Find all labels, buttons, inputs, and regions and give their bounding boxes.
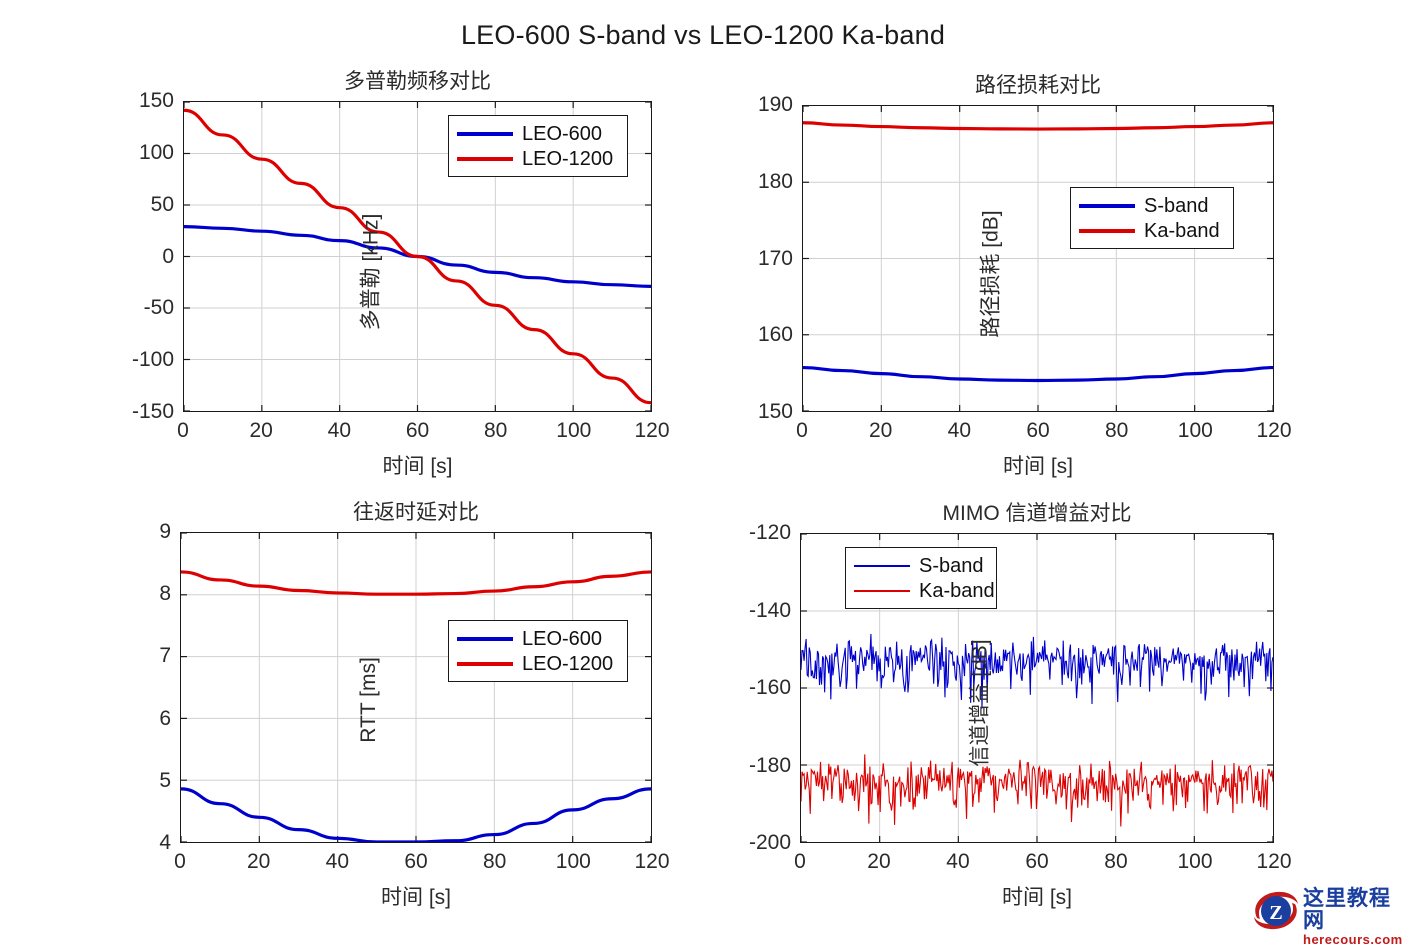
x-tick-label: 60 — [1025, 850, 1048, 874]
legend-item: LEO-600 — [457, 626, 618, 651]
logo-letter: Z — [1269, 902, 1282, 924]
subplot-pathloss: 路径损耗对比 路径损耗 [dB] 时间 [s] S-band Ka-band 1… — [802, 105, 1274, 412]
x-tick-label: 20 — [249, 419, 272, 443]
x-tick-label: 0 — [794, 850, 806, 874]
y-tick-label: -100 — [132, 348, 174, 372]
watermark-en: herecours.com — [1303, 932, 1403, 947]
y-tick-label: 150 — [139, 89, 174, 113]
x-tick-label: 20 — [869, 419, 892, 443]
legend-label: Ka-band — [919, 581, 995, 601]
x-tick-label: 40 — [946, 850, 969, 874]
subplot-pathloss-title: 路径损耗对比 — [802, 69, 1274, 99]
x-tick-label: 20 — [867, 850, 890, 874]
x-tick-label: 40 — [948, 419, 971, 443]
x-tick-label: 120 — [634, 850, 669, 874]
x-tick-label: 0 — [177, 419, 189, 443]
x-tick-label: 80 — [484, 419, 507, 443]
subplot-rtt-title: 往返时延对比 — [180, 496, 652, 526]
legend-item: S-band — [1079, 193, 1224, 218]
subplot-rtt-xlabel: 时间 [s] — [180, 881, 652, 911]
y-tick-label: -150 — [132, 400, 174, 424]
y-tick-label: 8 — [159, 582, 171, 606]
x-tick-label: 100 — [1178, 419, 1213, 443]
x-tick-label: 20 — [247, 850, 270, 874]
x-tick-label: 60 — [1026, 419, 1049, 443]
y-tick-label: 170 — [758, 247, 793, 271]
legend-label: LEO-600 — [522, 629, 602, 649]
legend-swatch-line — [1079, 204, 1135, 208]
x-tick-label: 120 — [1256, 419, 1291, 443]
legend-item: LEO-600 — [457, 121, 618, 146]
x-tick-label: 80 — [483, 850, 506, 874]
y-tick-label: 7 — [159, 644, 171, 668]
legend-label: S-band — [1144, 196, 1209, 216]
legend-swatch-line — [854, 565, 910, 567]
legend-rtt: LEO-600 LEO-1200 — [448, 620, 628, 682]
x-tick-label: 0 — [796, 419, 808, 443]
y-tick-label: -120 — [749, 521, 791, 545]
legend-swatch-line — [457, 132, 513, 136]
y-tick-label: -200 — [749, 831, 791, 855]
legend-pathloss: S-band Ka-band — [1070, 187, 1234, 249]
x-tick-label: 100 — [556, 850, 591, 874]
x-tick-label: 100 — [556, 419, 591, 443]
legend-label: S-band — [919, 556, 984, 576]
x-tick-label: 40 — [326, 850, 349, 874]
subplot-doppler-ylabel: 多普勒 [kHz] — [354, 213, 384, 330]
matlab-figure: LEO-600 S-band vs LEO-1200 Ka-band 多普勒频移… — [0, 0, 1406, 938]
y-tick-label: 180 — [758, 170, 793, 194]
legend-doppler: LEO-600 LEO-1200 — [448, 115, 628, 177]
x-tick-label: 120 — [634, 419, 669, 443]
y-tick-label: 0 — [162, 245, 174, 269]
subplot-doppler-title: 多普勒频移对比 — [183, 65, 652, 95]
subplot-mimo-xlabel: 时间 [s] — [800, 881, 1274, 911]
herecours-logo-icon: Z — [1251, 888, 1301, 934]
x-tick-label: 120 — [1256, 850, 1291, 874]
plot-area-rtt — [181, 533, 651, 842]
legend-swatch-line — [854, 590, 910, 592]
subplot-pathloss-xlabel: 时间 [s] — [802, 450, 1274, 480]
y-tick-label: 9 — [159, 520, 171, 544]
plot-area-pathloss — [803, 106, 1273, 411]
legend-item: LEO-1200 — [457, 651, 618, 676]
y-tick-label: -140 — [749, 599, 791, 623]
y-tick-label: 5 — [159, 769, 171, 793]
axes-pathloss — [802, 105, 1274, 412]
y-tick-label: 6 — [159, 707, 171, 731]
x-tick-label: 60 — [406, 419, 429, 443]
y-tick-label: -160 — [749, 676, 791, 700]
axes-rtt — [180, 532, 652, 843]
x-tick-label: 40 — [328, 419, 351, 443]
legend-item: LEO-1200 — [457, 146, 618, 171]
watermark-cn: 这里教程网 — [1303, 888, 1403, 932]
watermark: Z 这里教程网 herecours.com — [1251, 888, 1401, 934]
watermark-text: 这里教程网 herecours.com — [1303, 888, 1403, 947]
x-tick-label: 80 — [1105, 419, 1128, 443]
subplot-doppler-xlabel: 时间 [s] — [183, 450, 652, 480]
subplot-pathloss-ylabel: 路径损耗 [dB] — [975, 210, 1005, 337]
y-tick-label: 4 — [159, 831, 171, 855]
y-tick-label: 100 — [139, 141, 174, 165]
subplot-mimo: MIMO 信道增益对比 信道增益 [dB] 时间 [s] S-band Ka-b… — [800, 533, 1274, 843]
subplot-doppler: 多普勒频移对比 多普勒 [kHz] 时间 [s] LEO-600 LEO-120… — [183, 101, 652, 412]
legend-item: Ka-band — [1079, 218, 1224, 243]
legend-label: Ka-band — [1144, 221, 1220, 241]
y-tick-label: 150 — [758, 400, 793, 424]
legend-item: Ka-band — [854, 578, 987, 603]
legend-swatch-line — [457, 662, 513, 666]
y-tick-label: 160 — [758, 323, 793, 347]
y-tick-label: 190 — [758, 93, 793, 117]
legend-swatch-line — [457, 637, 513, 641]
legend-label: LEO-600 — [522, 124, 602, 144]
subplot-mimo-ylabel: 信道增益 [dB] — [964, 639, 994, 766]
legend-item: S-band — [854, 553, 987, 578]
y-tick-label: -180 — [749, 754, 791, 778]
x-tick-label: 100 — [1177, 850, 1212, 874]
legend-label: LEO-1200 — [522, 654, 613, 674]
legend-swatch-line — [1079, 229, 1135, 233]
subplot-rtt-ylabel: RTT [ms] — [357, 657, 381, 743]
x-tick-label: 80 — [1104, 850, 1127, 874]
legend-mimo: S-band Ka-band — [845, 547, 997, 609]
subplot-mimo-title: MIMO 信道增益对比 — [800, 497, 1274, 527]
x-tick-label: 0 — [174, 850, 186, 874]
figure-title: LEO-600 S-band vs LEO-1200 Ka-band — [0, 20, 1406, 51]
y-tick-label: 50 — [151, 193, 174, 217]
legend-swatch-line — [457, 157, 513, 161]
x-tick-label: 60 — [404, 850, 427, 874]
subplot-rtt: 往返时延对比 RTT [ms] 时间 [s] LEO-600 LEO-1200 … — [180, 532, 652, 843]
legend-label: LEO-1200 — [522, 149, 613, 169]
y-tick-label: -50 — [144, 296, 174, 320]
